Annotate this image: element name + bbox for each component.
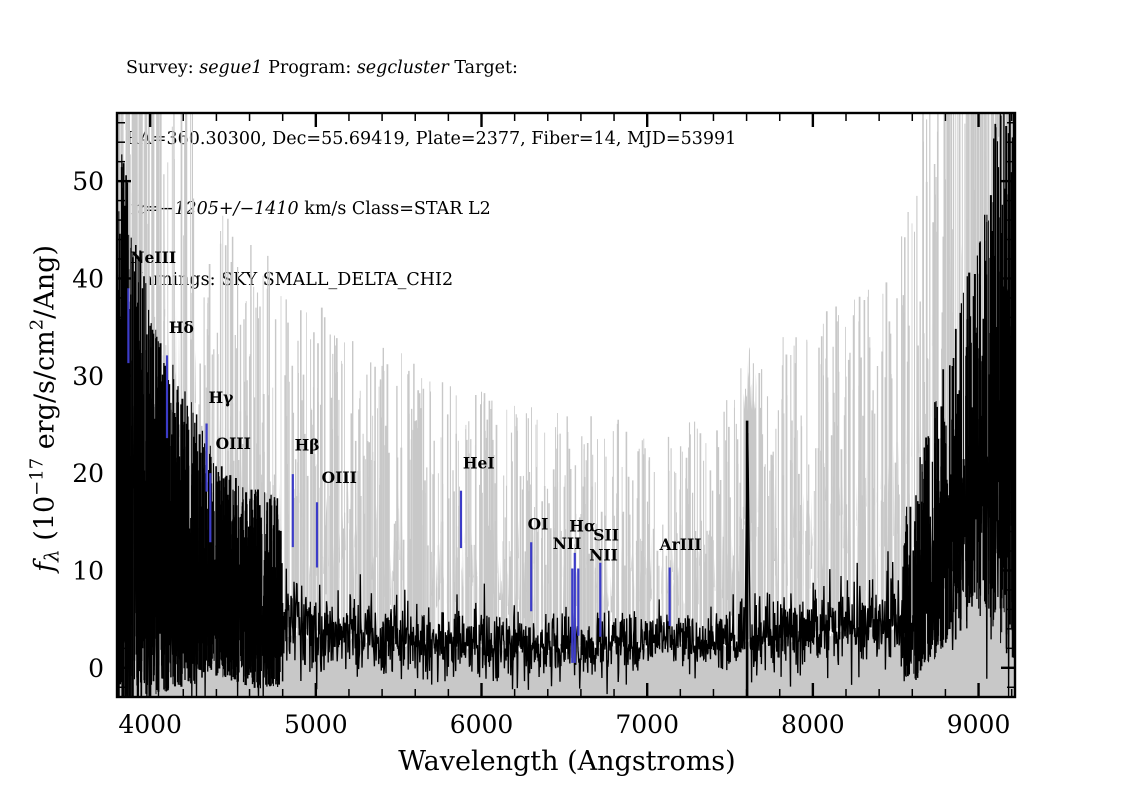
y-tick-label-30: 30 [72, 362, 104, 391]
line-label-nii-10: NII [589, 546, 618, 565]
line-label-neiii-0: NeIII [130, 248, 176, 267]
y-tick-label-10: 10 [72, 556, 104, 585]
y-tick-label-20: 20 [72, 459, 104, 488]
x-tick-label-8000: 8000 [781, 710, 845, 739]
line-label-nii-8: NII [553, 534, 582, 553]
y-tick-label-50: 50 [72, 167, 104, 196]
spectrum-plot: NeIIIHδHγOIIIHβOIIIHeIOINIIHαNIISIIArIII… [0, 0, 1134, 810]
line-label-h-9: Hα [569, 517, 596, 536]
x-tick-label-6000: 6000 [450, 710, 514, 739]
line-label-hei-6: HeI [463, 453, 495, 472]
line-label-oiii-3: OIII [216, 434, 251, 453]
spectrum-svg: NeIIIHδHγOIIIHβOIIIHeIOINIIHαNIISIIArIII… [0, 0, 1134, 810]
line-label-oiii-5: OIII [322, 468, 357, 487]
line-label-ariii-12: ArIII [659, 535, 702, 554]
y-tick-label-40: 40 [72, 264, 104, 293]
x-tick-label-7000: 7000 [615, 710, 679, 739]
line-label-h-1: Hδ [169, 318, 194, 337]
line-label-h-4: Hβ [295, 436, 320, 455]
x-tick-label-9000: 9000 [947, 710, 1011, 739]
line-label-oi-7: OI [528, 515, 549, 534]
x-tick-label-4000: 4000 [118, 710, 182, 739]
flux-series [117, 113, 1015, 697]
line-label-h-2: Hγ [209, 388, 235, 407]
y-tick-label-0: 0 [88, 654, 104, 683]
x-tick-label-5000: 5000 [284, 710, 348, 739]
line-label-sii-11: SII [593, 525, 619, 544]
